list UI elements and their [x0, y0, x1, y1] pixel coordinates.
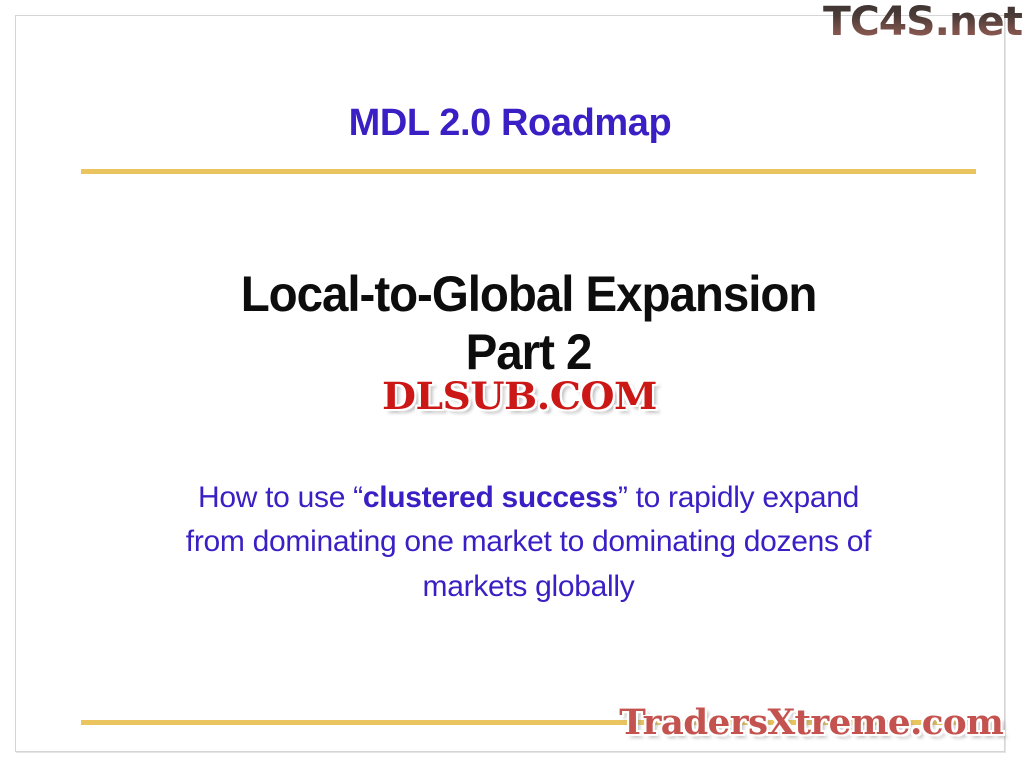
page-title: MDL 2.0 Roadmap — [16, 103, 1004, 145]
description-emphasis: clustered success — [363, 481, 618, 514]
slide-frame: MDL 2.0 Roadmap Local-to-Global Expansio… — [15, 15, 1005, 752]
description-prefix: How to use “ — [198, 481, 363, 514]
slide-content: Local-to-Global Expansion Part 2 How to … — [81, 266, 976, 609]
headline: Local-to-Global Expansion — [103, 266, 953, 322]
watermark-tradersxtreme: TradersXtreme.com — [620, 702, 1004, 743]
watermark-tc4s: TC4S.net — [823, 0, 1022, 44]
description-text: How to use “clustered success” to rapidl… — [81, 476, 976, 609]
subheadline: Part 2 — [103, 324, 953, 380]
divider-top — [81, 169, 976, 174]
watermark-dlsub: DLSUB.COM — [382, 374, 657, 418]
